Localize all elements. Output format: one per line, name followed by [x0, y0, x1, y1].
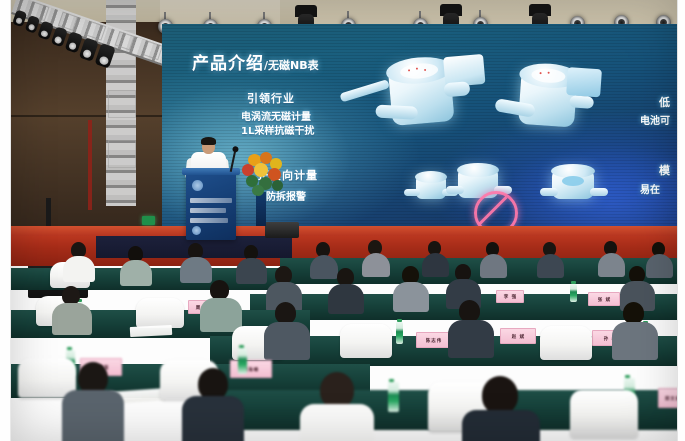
product-render-secondary: [489, 46, 615, 146]
podium: [186, 172, 236, 240]
speaker-hair: [201, 137, 216, 145]
chair: [540, 326, 592, 360]
exit-sign: [142, 216, 155, 225]
chair: [136, 298, 184, 328]
name-placard: 李 强: [496, 290, 524, 303]
slide-feature-1: 电涡流无磁计量: [241, 108, 311, 123]
name-placard: 赵 斌: [500, 328, 536, 344]
slide-right-line-1: 电池可: [640, 112, 670, 127]
conference-photo: 产品介绍/无磁NB表 引领行业 电涡流无磁计量 1L采样抗磁干扰 正反向计量 防…: [0, 0, 685, 441]
left-margin: [0, 0, 11, 441]
water-bottle: [396, 322, 403, 344]
slide-right-heading-2: 模: [659, 162, 670, 178]
product-render-main: [368, 39, 506, 145]
slide-title: 产品介绍/无磁NB表: [192, 49, 319, 74]
venue-scene: 产品介绍/无磁NB表 引领行业 电涡流无磁计量 1L采样抗磁干扰 正反向计量 防…: [10, 0, 678, 441]
flower-arrangement: [238, 150, 286, 196]
slide-right-heading-1: 低: [659, 94, 670, 110]
audience-area: 李 强 张 斌: [10, 240, 678, 441]
stage-monitor: [265, 222, 299, 238]
slide-right-line-2: 易在: [640, 181, 660, 196]
chair: [340, 324, 392, 358]
led-presentation-screen: 产品介绍/无磁NB表: [162, 24, 678, 236]
slide-feature-2: 1L采样抗磁干扰: [241, 122, 314, 137]
slide-lead-heading: 引领行业: [247, 90, 295, 106]
water-bottle: [570, 284, 577, 302]
water-bottle: [388, 382, 399, 412]
name-placard: 郑文斌: [658, 388, 678, 408]
right-margin: [677, 0, 685, 441]
name-placard: 刘海峰: [230, 360, 272, 378]
name-placard: 陈志伟: [416, 332, 452, 348]
product-render-small-3: [540, 164, 606, 214]
water-bottle: [238, 348, 247, 374]
chair: [570, 390, 638, 438]
flower-stand: [256, 192, 266, 226]
stage-edge: [10, 226, 678, 236]
name-placard: 张 斌: [588, 292, 620, 306]
